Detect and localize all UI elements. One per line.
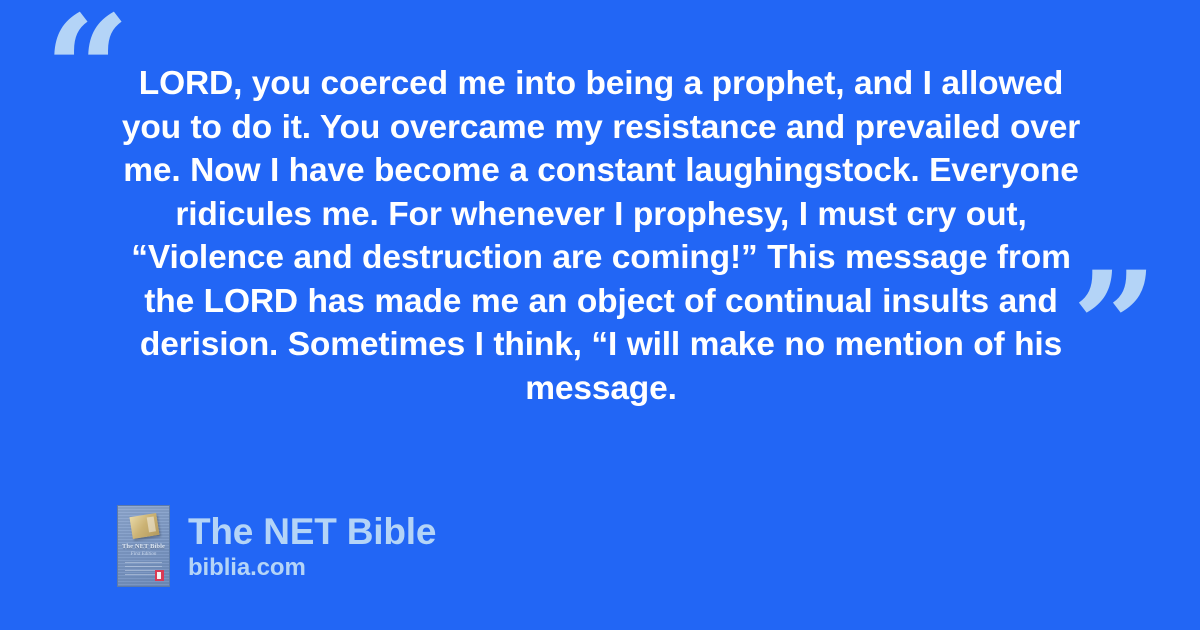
book-cover-thumbnail-icon[interactable]: The NET Bible First Edition bbox=[117, 505, 170, 587]
quote-text: LORD, you coerced me into being a prophe… bbox=[118, 62, 1084, 410]
branding-footer[interactable]: The NET Bible First Edition The NET Bibl… bbox=[117, 505, 436, 587]
quote-card: “ LORD, you coerced me into being a prop… bbox=[0, 0, 1200, 630]
book-cover-edition: First Edition bbox=[118, 552, 169, 558]
branding-text-group: The NET Bible biblia.com bbox=[188, 512, 436, 581]
book-cover-title: The NET Bible bbox=[118, 543, 169, 551]
close-quote-icon: ” bbox=[1072, 252, 1158, 402]
brand-title: The NET Bible bbox=[188, 512, 436, 552]
publisher-logo-icon bbox=[155, 570, 164, 581]
book-cover-artwork bbox=[129, 513, 159, 539]
quote-body: LORD, you coerced me into being a prophe… bbox=[118, 62, 1084, 410]
brand-site-link[interactable]: biblia.com bbox=[188, 555, 436, 581]
